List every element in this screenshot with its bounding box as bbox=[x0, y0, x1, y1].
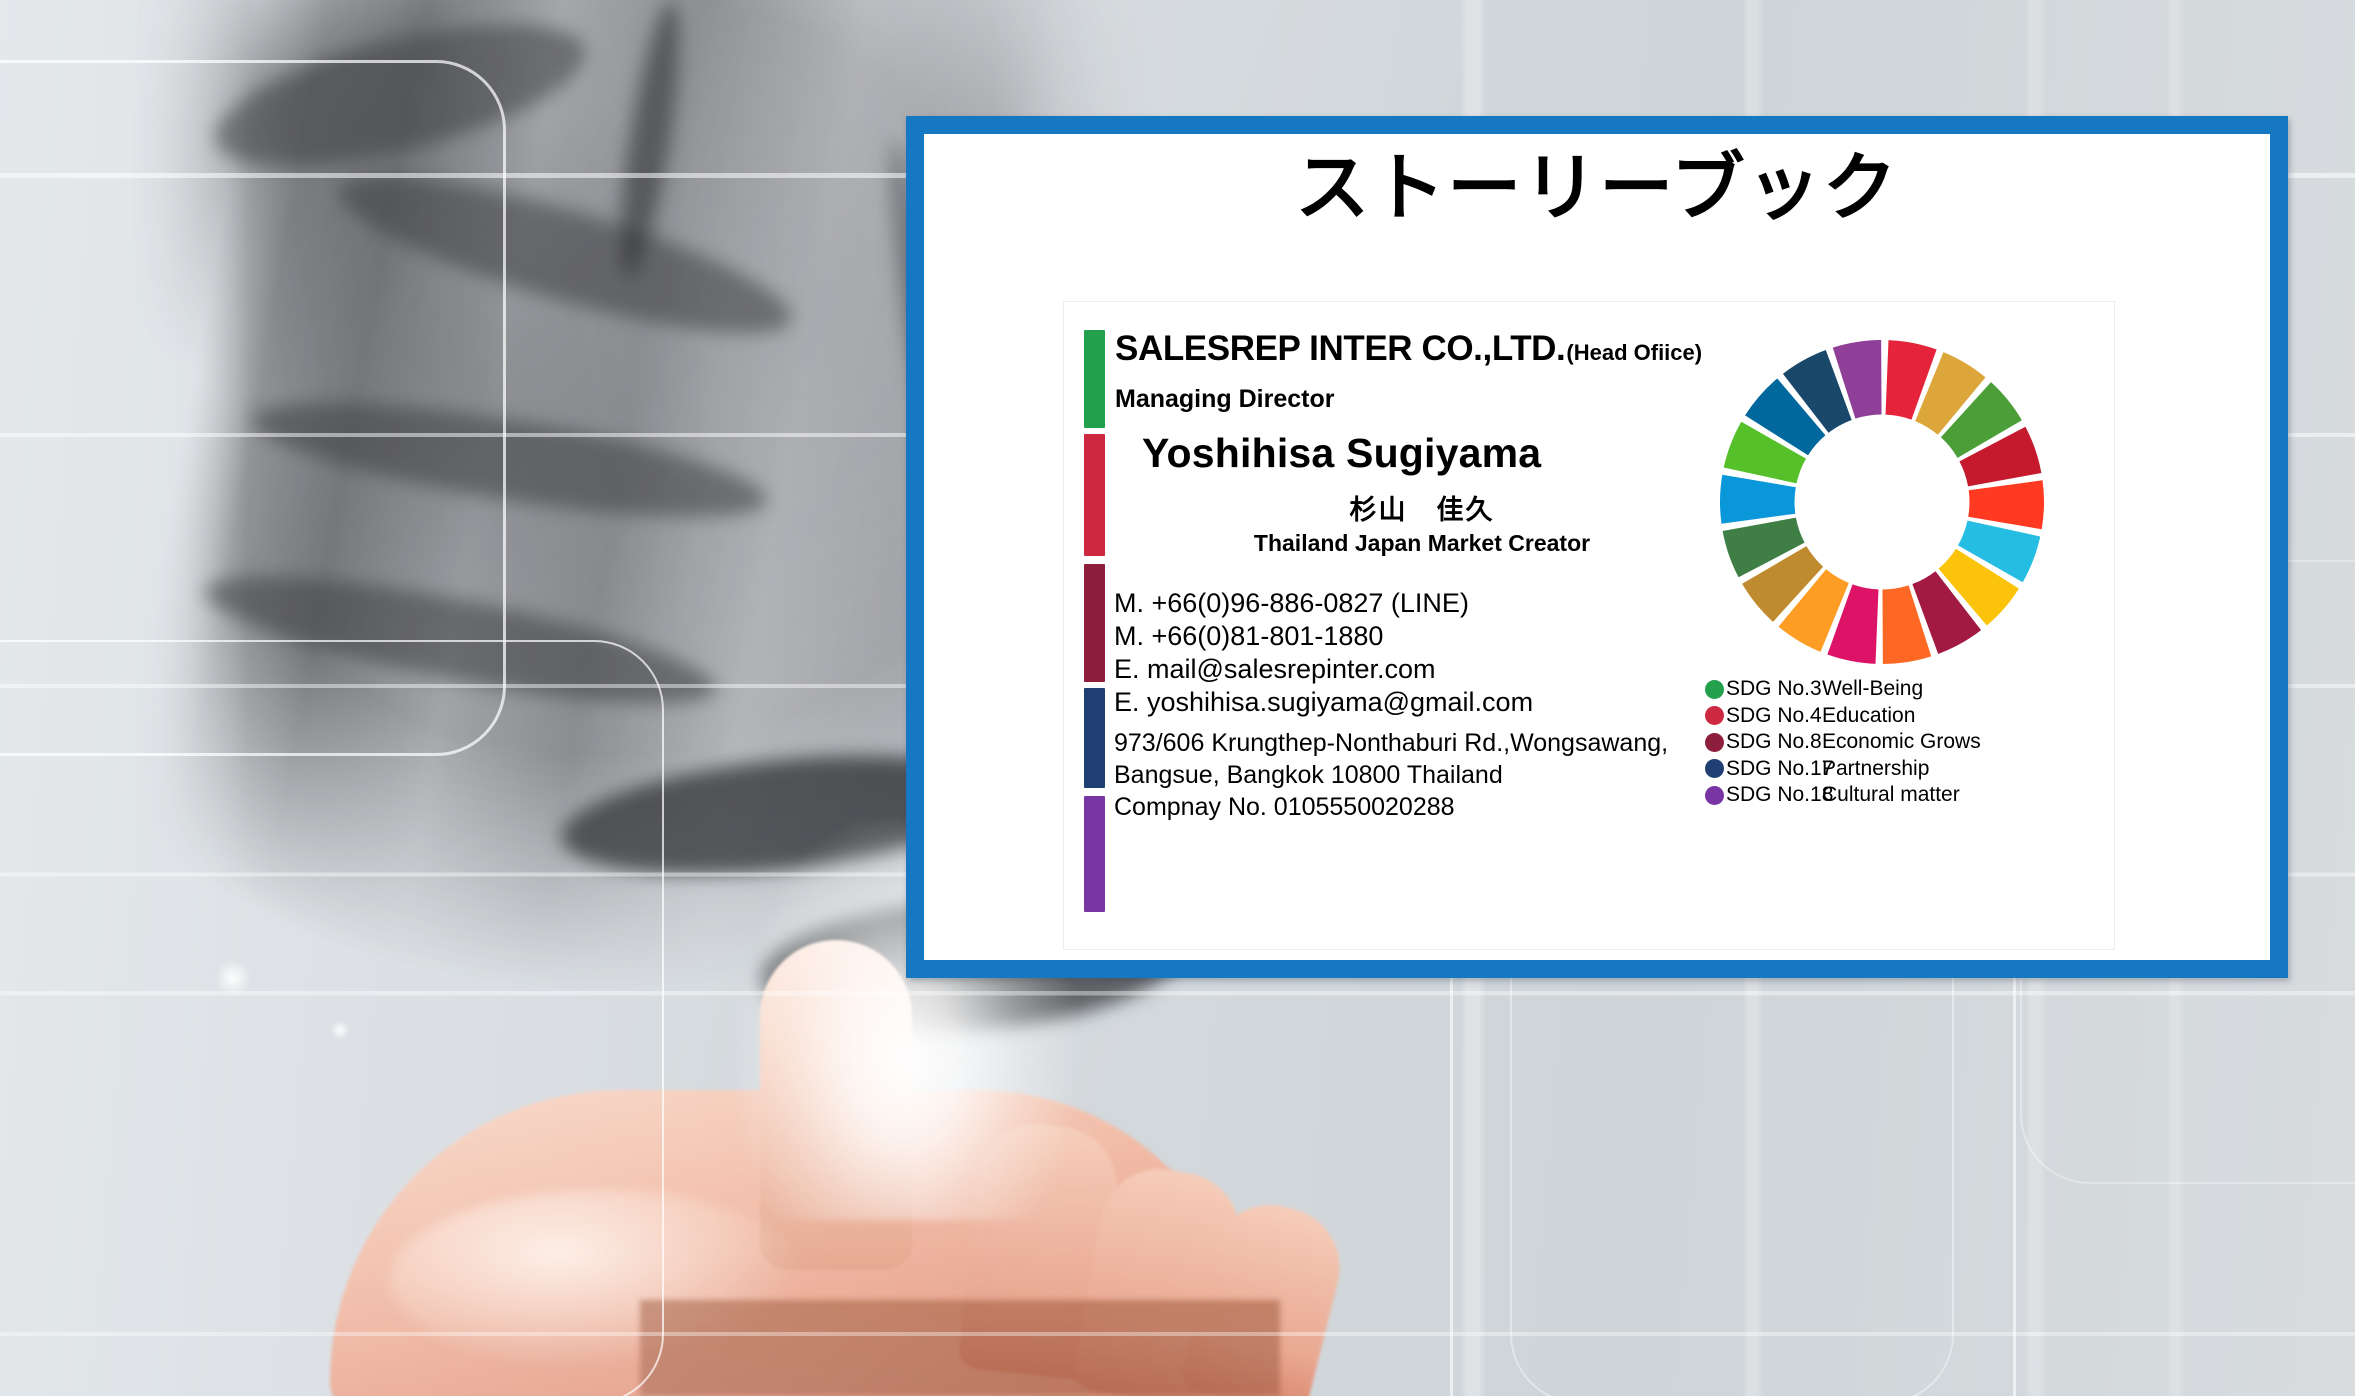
legend-label: Cultural matter bbox=[1822, 782, 1960, 809]
address-block: 973/606 Krungthep-Nonthaburi Rd.,Wongsaw… bbox=[1114, 727, 1668, 823]
vcard-box: SALESREP INTER CO.,LTD. (Head Ofiice) Ma… bbox=[1063, 301, 2115, 950]
contact-line-email-1[interactable]: E. mail@salesrepinter.com bbox=[1114, 653, 1533, 686]
legend-item: SDG No.18 Cultural matter bbox=[1705, 782, 1981, 809]
legend-dot-icon bbox=[1705, 733, 1724, 752]
legend-label: Education bbox=[1822, 703, 1915, 730]
head-office-label: (Head Ofiice) bbox=[1566, 340, 1702, 366]
lens-flare bbox=[330, 1020, 350, 1040]
address-line-2: Bangsue, Bangkok 10800 Thailand bbox=[1114, 759, 1668, 791]
person-name-jp: 杉山 佳久 bbox=[1142, 488, 1702, 527]
accent-bar-purple bbox=[1084, 796, 1105, 912]
legend-label: Partnership bbox=[1822, 756, 1929, 783]
company-name: SALESREP INTER CO.,LTD. bbox=[1115, 329, 1565, 369]
lens-flare bbox=[215, 960, 251, 996]
hud-rounded-rect bbox=[0, 640, 664, 1396]
legend-number: SDG No.18 bbox=[1726, 782, 1822, 809]
legend-item: SDG No.4 Education bbox=[1705, 703, 1981, 730]
job-title: Managing Director bbox=[1115, 385, 1334, 414]
legend-number: SDG No.17 bbox=[1726, 756, 1822, 783]
company-line: SALESREP INTER CO.,LTD. (Head Ofiice) bbox=[1115, 329, 1702, 369]
legend-dot-icon bbox=[1705, 706, 1724, 725]
legend-item: SDG No.8 Economic Grows bbox=[1705, 729, 1981, 756]
legend-dot-icon bbox=[1705, 759, 1724, 778]
legend-dot-icon bbox=[1705, 680, 1724, 699]
legend-label: Well-Being bbox=[1822, 676, 1923, 703]
person-name-en: Yoshihisa Sugiyama bbox=[1142, 430, 1541, 477]
contact-line-mobile-1[interactable]: M. +66(0)96-886-0827 (LINE) bbox=[1114, 587, 1533, 620]
contact-line-mobile-2[interactable]: M. +66(0)81-801-1880 bbox=[1114, 620, 1533, 653]
legend-item: SDG No.3 Well-Being bbox=[1705, 676, 1981, 703]
sdg-legend: SDG No.3 Well-Being SDG No.4 Education S… bbox=[1705, 676, 1981, 809]
legend-label: Economic Grows bbox=[1822, 729, 1981, 756]
legend-number: SDG No.4 bbox=[1726, 703, 1822, 730]
accent-bar-maroon bbox=[1084, 564, 1105, 682]
legend-item: SDG No.17 Partnership bbox=[1705, 756, 1981, 783]
contact-line-email-2[interactable]: E. yoshihisa.sugiyama@gmail.com bbox=[1114, 686, 1533, 719]
business-card-panel: ストーリーブック SALESREP INTER CO.,LTD. (Head O… bbox=[906, 116, 2288, 978]
accent-bar-green bbox=[1084, 330, 1105, 428]
person-role: Thailand Japan Market Creator bbox=[1142, 530, 1702, 557]
sdg-wheel-segment bbox=[1968, 480, 2044, 529]
accent-bar-navy bbox=[1084, 688, 1105, 788]
address-line-3: Compnay No. 0105550020288 bbox=[1114, 791, 1668, 823]
contact-block: M. +66(0)96-886-0827 (LINE) M. +66(0)81-… bbox=[1114, 587, 1533, 719]
sdg-wheel-segment bbox=[1720, 475, 1796, 524]
legend-number: SDG No.3 bbox=[1726, 676, 1822, 703]
card-white-area: ストーリーブック SALESREP INTER CO.,LTD. (Head O… bbox=[924, 134, 2270, 960]
legend-number: SDG No.8 bbox=[1726, 729, 1822, 756]
address-line-1: 973/606 Krungthep-Nonthaburi Rd.,Wongsaw… bbox=[1114, 727, 1668, 759]
legend-dot-icon bbox=[1705, 786, 1724, 805]
accent-bar-red bbox=[1084, 434, 1105, 556]
sdg-wheel-icon bbox=[1720, 340, 2044, 664]
page-title: ストーリーブック bbox=[924, 140, 2270, 236]
